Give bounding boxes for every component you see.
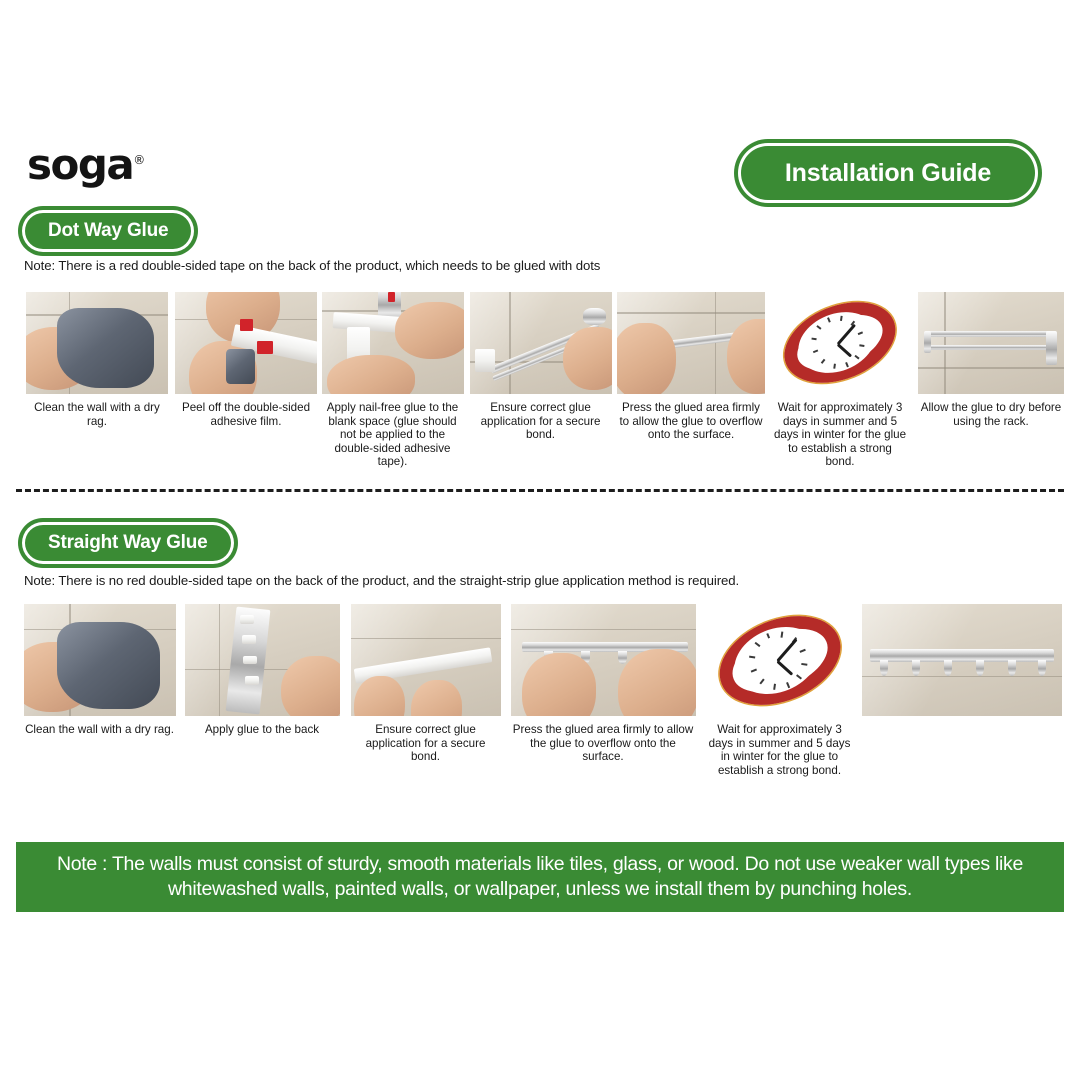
step-photo [185, 604, 340, 716]
step-photo [26, 292, 168, 394]
step-photo [351, 604, 501, 716]
footer-note-text: Note : The walls must consist of sturdy,… [30, 852, 1050, 902]
step-caption: Clean the wall with a dry rag. [22, 723, 177, 737]
step-caption: Apply glue to the back [182, 723, 342, 737]
step-caption: Clean the wall with a dry rag. [22, 401, 172, 428]
section-pill-dot-way-glue: Dot Way Glue [22, 210, 194, 252]
step-caption: Wait for approximately 3 days in summer … [770, 401, 910, 469]
footer-note-banner: Note : The walls must consist of sturdy,… [16, 842, 1064, 912]
clock-minute-hand [776, 639, 797, 662]
installation-guide-page: soga® Installation Guide Dot Way Glue No… [0, 0, 1080, 1080]
step-item: Wait for approximately 3 days in summer … [702, 604, 857, 777]
step-item: Clean the wall with a dry rag. [22, 292, 172, 428]
step-photo [322, 292, 464, 394]
clock-illustration [705, 604, 855, 716]
step-photo [862, 604, 1062, 716]
section-title-dot-way-glue: Dot Way Glue [48, 220, 168, 242]
step-caption: Apply nail-free glue to the blank space … [320, 401, 465, 469]
section-note-straight-way-glue: Note: There is no red double-sided tape … [24, 573, 739, 588]
step-caption: Press the glued area firmly to allow the… [616, 401, 766, 442]
step-photo [617, 292, 765, 394]
step-photo [175, 292, 317, 394]
step-item: Press the glued area firmly to allow the… [508, 604, 698, 764]
clock-hour-hand [837, 343, 853, 358]
logo-text: soga [27, 140, 133, 189]
step-photo [470, 292, 612, 394]
installation-guide-label: Installation Guide [785, 159, 991, 188]
step-caption: Press the glued area firmly to allow the… [508, 723, 698, 764]
step-photo [705, 604, 855, 716]
section-pill-straight-way-glue: Straight Way Glue [22, 522, 234, 564]
step-photo [24, 604, 176, 716]
step-caption: Wait for approximately 3 days in summer … [702, 723, 857, 777]
step-photo [918, 292, 1064, 394]
step-caption: Ensure correct glue application for a se… [468, 401, 613, 442]
registered-mark-icon: ® [133, 153, 145, 167]
step-caption: Ensure correct glue application for a se… [348, 723, 503, 764]
clock-illustration [771, 292, 909, 394]
installation-guide-badge: Installation Guide [738, 143, 1038, 203]
section-title-straight-way-glue: Straight Way Glue [48, 532, 208, 554]
step-item: Ensure correct glue application for a se… [348, 604, 503, 764]
section-note-dot-way-glue: Note: There is a red double-sided tape o… [24, 258, 600, 273]
step-caption: Allow the glue to dry before using the r… [916, 401, 1066, 428]
step-item: Allow the glue to dry before using the r… [916, 292, 1066, 428]
step-caption: Peel off the double-sided adhesive film. [170, 401, 322, 428]
step-item: Press the glued area firmly to allow the… [616, 292, 766, 442]
step-item: Ensure correct glue application for a se… [468, 292, 613, 442]
step-photo [771, 292, 909, 394]
step-item: Apply glue to the back [182, 604, 342, 737]
clock-minute-hand [837, 323, 856, 345]
soga-logo: soga® [27, 138, 145, 187]
step-photo [511, 604, 696, 716]
step-item: Clean the wall with a dry rag. [22, 604, 177, 737]
step-item: Apply nail-free glue to the blank space … [320, 292, 465, 469]
page-header: soga® Installation Guide [0, 136, 1080, 208]
step-item [862, 604, 1062, 723]
clock-hour-hand [776, 660, 793, 676]
tile-wall-backdrop [918, 292, 1064, 394]
section-divider [16, 489, 1064, 492]
step-item: Wait for approximately 3 days in summer … [770, 292, 910, 469]
step-item: Peel off the double-sided adhesive film. [170, 292, 322, 428]
